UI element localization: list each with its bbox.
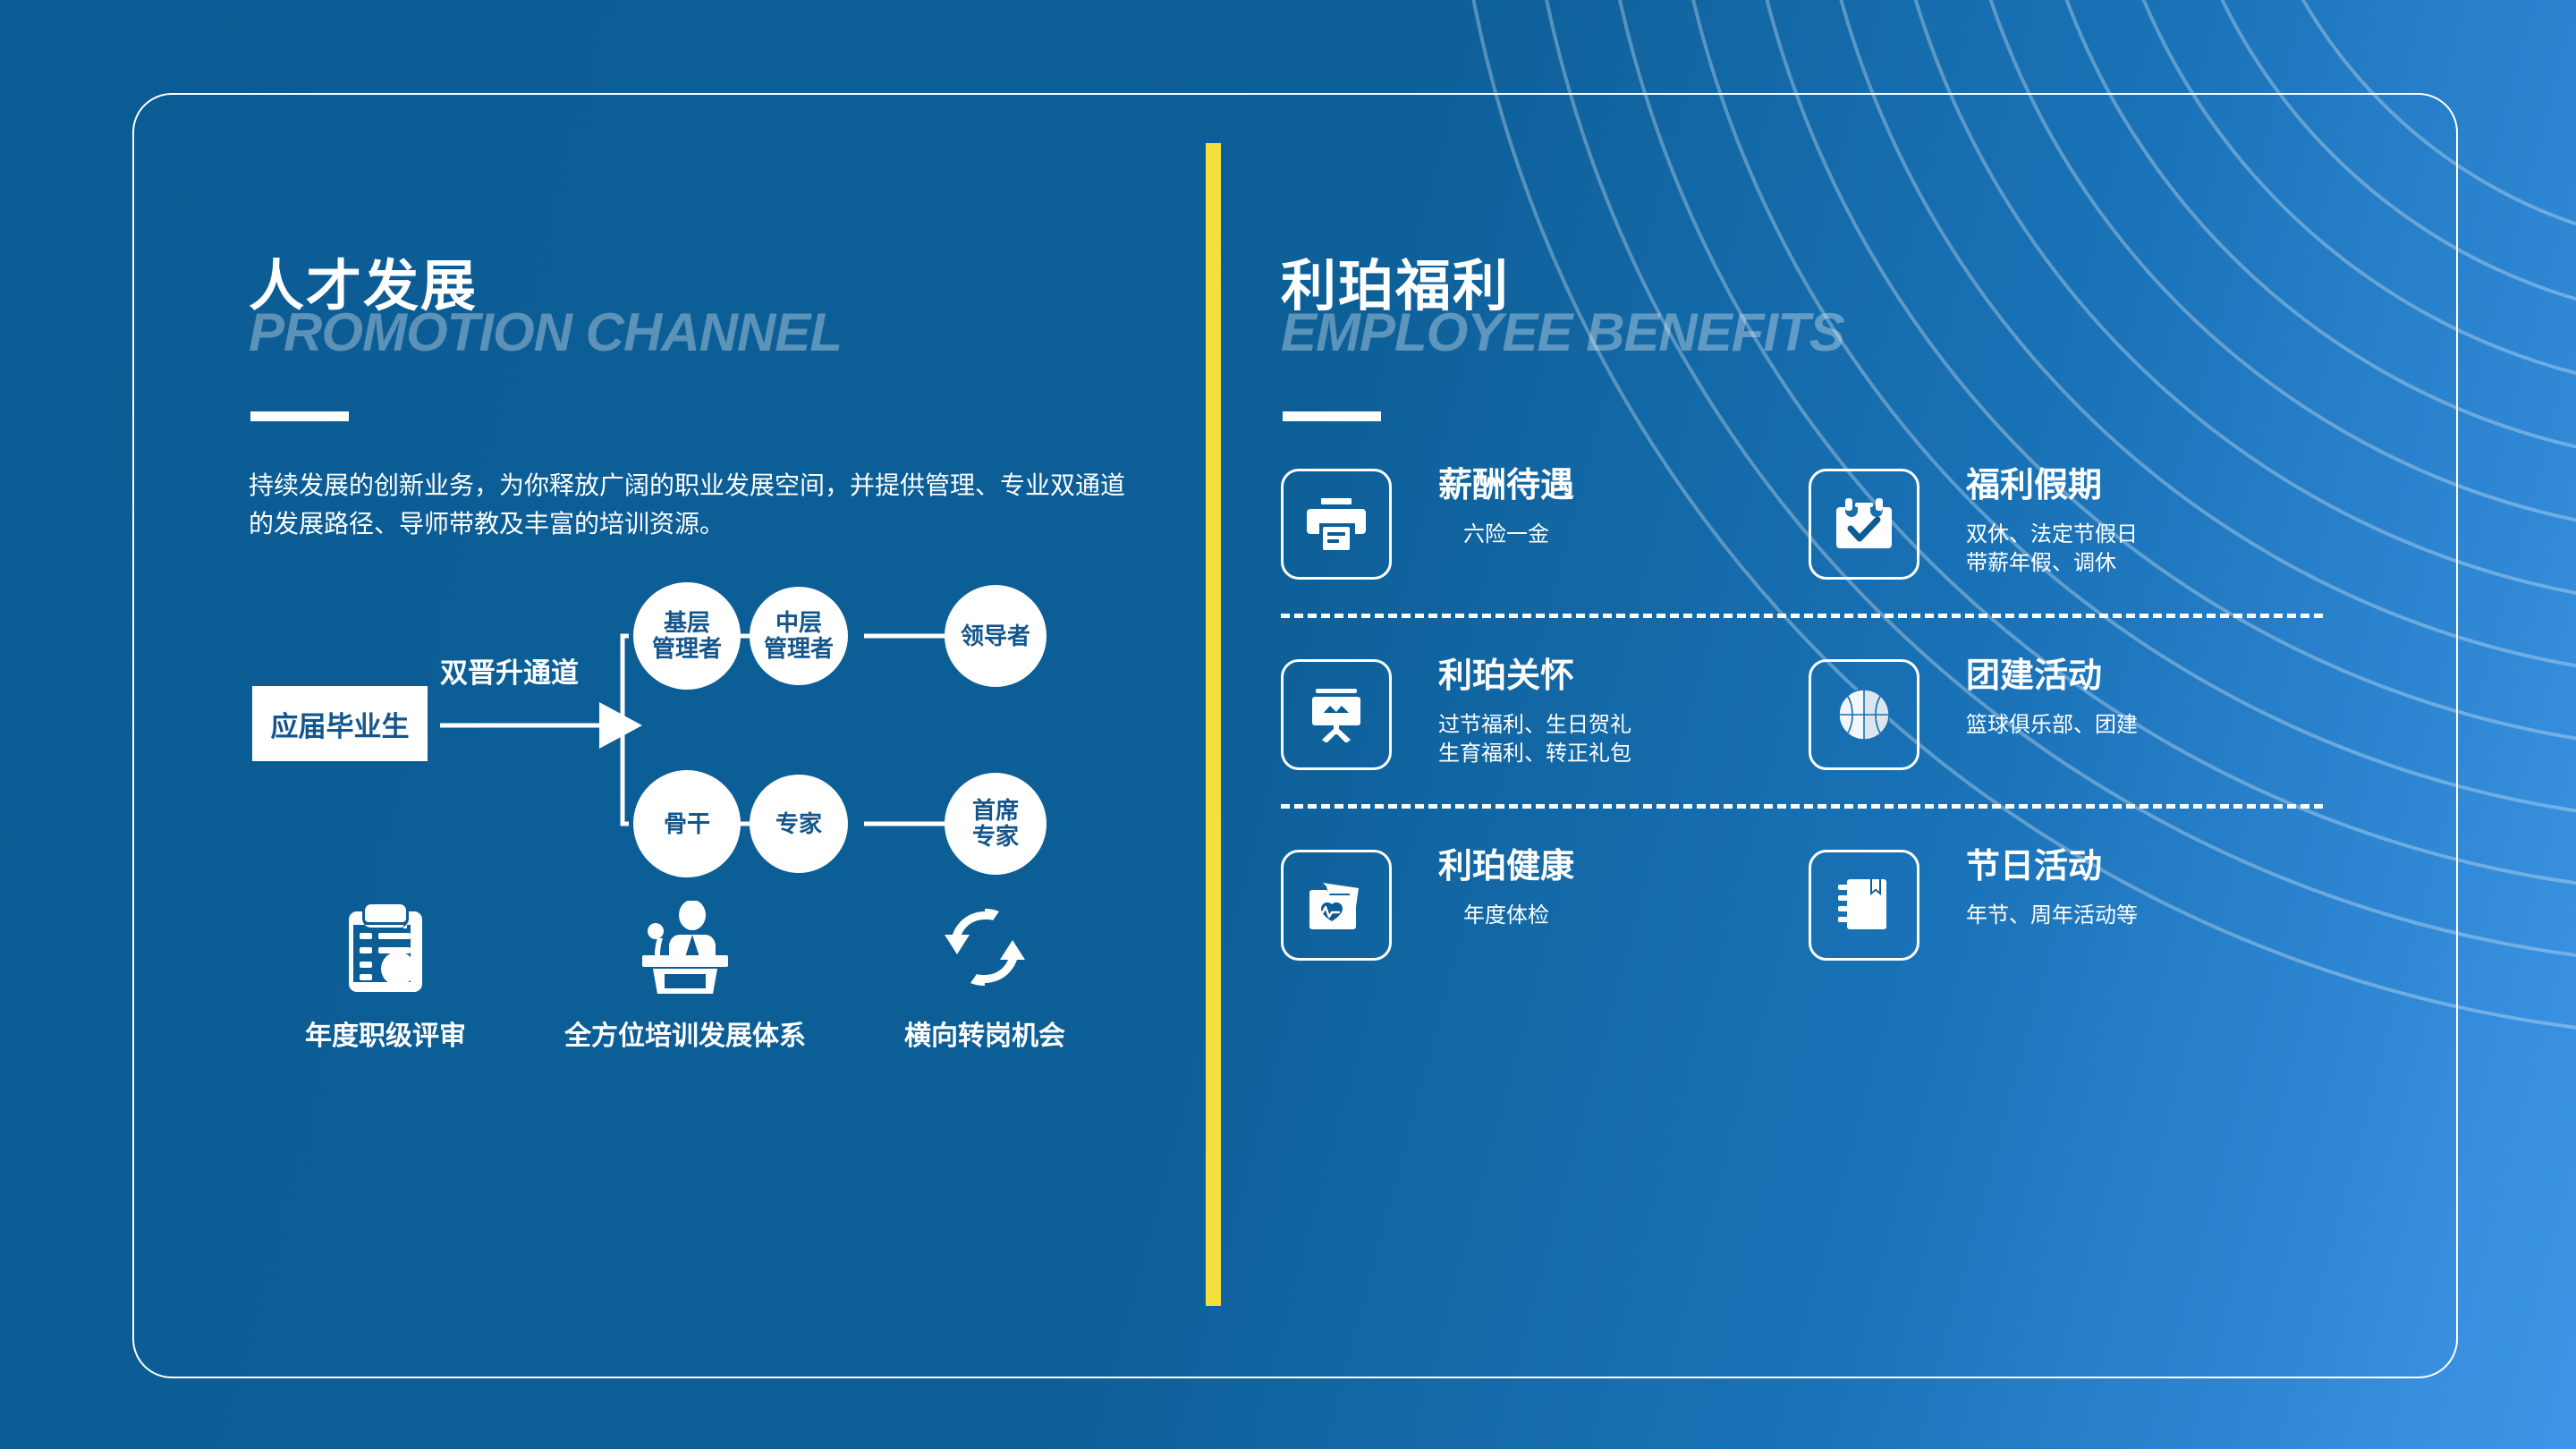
slide-canvas: PROMOTION CHANNEL 人才发展 持续发展的创新业务，为你释放广阔的… (0, 0, 2576, 1449)
benefit-desc: 篮球俱乐部、团建 (1966, 711, 2138, 740)
benefit-desc: 年节、周年活动等 (1966, 902, 2138, 930)
feature-training-system: 全方位培训发展体系 (555, 901, 815, 1053)
benefit-desc: 年度体检 (1438, 902, 1574, 930)
feature-label: 年度职级评审 (256, 1013, 515, 1053)
benefit-text: 节日活动 年节、周年活动等 (1966, 844, 2138, 930)
promotion-diagram: 应届毕业生 双晋升通道 基层管理者 中层管理者 领导者 骨干 专家 首席专家 (249, 568, 1170, 863)
node-junior-manager: 基层管理者 (633, 582, 741, 690)
feature-label: 横向转岗机会 (855, 1013, 1114, 1053)
benefit-title: 薪酬待遇 (1438, 467, 1574, 506)
left-heading: PROMOTION CHANNEL 人才发展 (249, 259, 1170, 447)
benefit-item-holidays: 福利假期 双休、法定节假日 带薪年假、调休 (1809, 463, 2336, 580)
notebook-icon (1809, 850, 1919, 961)
benefits-row: 利珀健康 年度体检 (1281, 844, 2336, 961)
right-heading: EMPLOYEE BENEFITS 利珀福利 (1281, 259, 2336, 447)
benefit-item-care: 利珀关怀 过节福利、生日贺礼 生育福利、转正礼包 (1281, 654, 1809, 770)
promotion-lead-text: 持续发展的创新业务，为你释放广阔的职业发展空间，并提供管理、专业双通道的发展路径… (249, 467, 1143, 543)
benefit-text: 薪酬待遇 六险一金 (1438, 463, 1574, 549)
rotate-arrows-icon (855, 901, 1114, 994)
benefit-title: 节日活动 (1966, 848, 2138, 887)
podium-speaker-icon (555, 901, 815, 994)
benefit-desc: 双休、法定节假日 带薪年假、调休 (1966, 521, 2138, 579)
benefits-separator (1281, 804, 2323, 809)
benefit-text: 利珀关怀 过节福利、生日贺礼 生育福利、转正礼包 (1438, 654, 1631, 768)
node-chief-expert: 首席专家 (945, 773, 1046, 875)
benefit-desc: 六险一金 (1438, 521, 1574, 549)
benefit-item-festival: 节日活动 年节、周年活动等 (1809, 844, 2336, 961)
benefit-item-salary: 薪酬待遇 六险一金 (1281, 463, 1809, 580)
feature-label: 全方位培训发展体系 (555, 1013, 815, 1053)
benefit-text: 团建活动 篮球俱乐部、团建 (1966, 654, 2138, 740)
node-middle-manager: 中层管理者 (750, 587, 848, 685)
feature-lateral-transfer: 横向转岗机会 (855, 901, 1114, 1053)
employee-benefits-section: EMPLOYEE BENEFITS 利珀福利 (1281, 259, 2336, 961)
benefit-item-teambuilding: 团建活动 篮球俱乐部、团建 (1809, 654, 2336, 770)
benefits-grid: 薪酬待遇 六险一金 福利 (1281, 463, 2336, 961)
benefits-row: 利珀关怀 过节福利、生日贺礼 生育福利、转正礼包 (1281, 654, 2336, 770)
benefit-item-health: 利珀健康 年度体检 (1281, 844, 1809, 961)
printer-icon (1281, 469, 1392, 580)
right-heading-cn: 利珀福利 (1281, 259, 1510, 315)
benefits-row: 薪酬待遇 六险一金 福利 (1281, 463, 2336, 580)
column-divider (1206, 143, 1221, 1306)
basketball-icon (1809, 659, 1919, 770)
benefit-title: 利珀关怀 (1438, 657, 1631, 697)
node-backbone: 骨干 (633, 770, 741, 877)
node-expert: 专家 (750, 775, 848, 873)
clipboard-check-icon (256, 901, 515, 994)
benefit-title: 福利假期 (1966, 467, 2138, 506)
feature-annual-review: 年度职级评审 (256, 901, 515, 1053)
diagram-start-box: 应届毕业生 (252, 686, 428, 761)
benefit-title: 利珀健康 (1438, 848, 1574, 887)
development-features: 年度职级评审 全方位培训发展体系 (256, 901, 1114, 1053)
promotion-channel-section: PROMOTION CHANNEL 人才发展 持续发展的创新业务，为你释放广阔的… (249, 259, 1170, 1053)
left-heading-cn: 人才发展 (249, 259, 478, 315)
benefit-text: 利珀健康 年度体检 (1438, 844, 1574, 930)
left-heading-underline (250, 411, 349, 421)
calendar-check-icon (1809, 469, 1919, 580)
presentation-board-icon (1281, 659, 1392, 770)
diagram-arrow-label: 双晋升通道 (440, 650, 579, 691)
health-folder-icon (1281, 850, 1392, 961)
node-leader: 领导者 (945, 585, 1046, 687)
right-heading-underline (1283, 411, 1381, 421)
benefit-text: 福利假期 双休、法定节假日 带薪年假、调休 (1966, 463, 2138, 578)
benefits-separator (1281, 614, 2323, 618)
benefit-desc: 过节福利、生日贺礼 生育福利、转正礼包 (1438, 711, 1631, 769)
benefit-title: 团建活动 (1966, 657, 2138, 697)
